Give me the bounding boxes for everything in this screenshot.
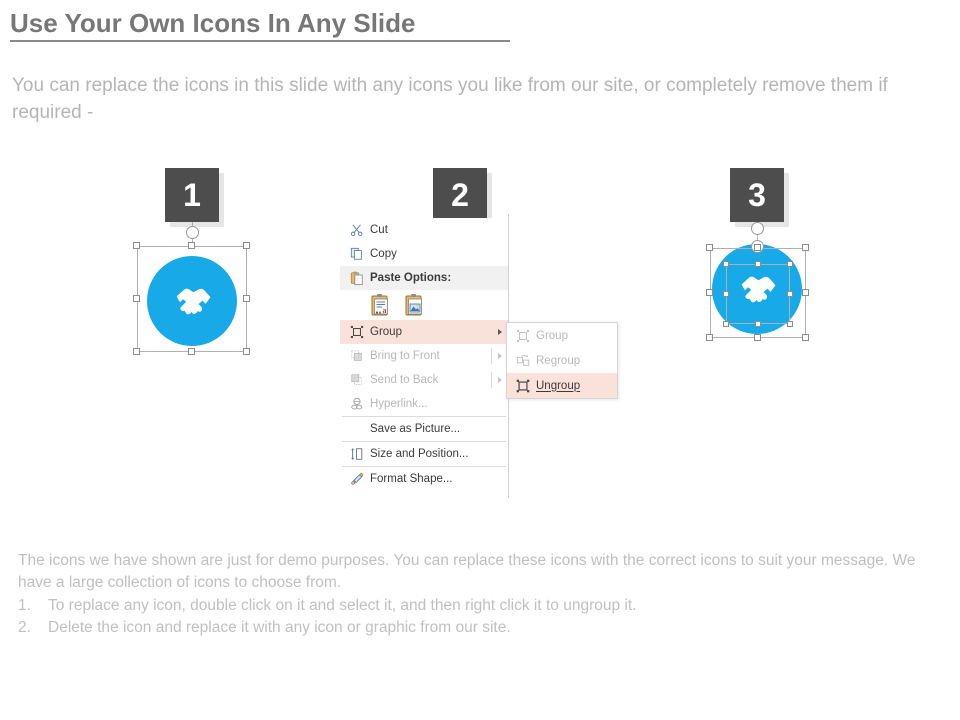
menu-item-format-shape-label: Format Shape... [370,473,452,485]
inner-handle-sw-3[interactable] [723,321,729,327]
copy-icon [344,245,370,263]
step-badge-1-number: 1 [183,177,201,214]
resize-handle-s-1[interactable] [188,348,195,355]
menu-item-send-to-back-label: Send to Back [370,374,438,386]
inner-handle-ne-3[interactable] [787,261,793,267]
menu-item-format-shape[interactable]: Format Shape... [340,467,508,491]
resize-handle-n-3[interactable] [754,244,761,251]
chevron-right-icon-send-to-back [498,377,502,383]
menu-item-cut[interactable]: Cut [340,218,508,242]
footer-paragraph: The icons we have shown are just for dem… [18,550,938,594]
submenu-rule-send-to-back [491,372,492,388]
menu-item-hyperlink-label: Hyperlink... [370,398,428,410]
menu-item-cut-label: Cut [370,224,388,236]
step-badge-2-number: 2 [451,177,469,214]
rotation-handle-1[interactable] [186,226,199,239]
footer-text-block: The icons we have shown are just for dem… [18,550,938,639]
step-badge-2: 2 [433,168,487,222]
size-position-icon [344,445,370,463]
selection-box-3-inner[interactable] [726,264,790,324]
menu-item-bring-to-front-label: Bring to Front [370,350,440,362]
menu-item-save-as-picture[interactable]: Save as Picture... [340,417,508,441]
resize-handle-ne-1[interactable] [243,242,250,249]
paste-keep-text-icon[interactable]: a [368,292,394,318]
resize-handle-ne-3[interactable] [802,244,809,251]
format-shape-icon [344,470,370,488]
paste-picture-icon[interactable] [402,292,428,318]
menu-item-group-label: Group [370,326,402,338]
scissors-icon [344,221,370,239]
menu-item-bring-to-front[interactable]: Bring to Front [340,344,508,368]
submenu-item-ungroup[interactable]: Ungroup [507,373,617,398]
selection-box-1[interactable] [137,246,247,352]
submenu-item-regroup-label: Regroup [536,355,580,367]
step-badge-3: 3 [730,168,784,222]
resize-handle-se-3[interactable] [802,334,809,341]
submenu-item-ungroup-label: Ungroup [536,380,580,392]
resize-handle-e-1[interactable] [243,295,250,302]
svg-text:a: a [383,306,387,315]
page-title: Use Your Own Icons In Any Slide [10,8,416,39]
resize-handle-e-3[interactable] [802,289,809,296]
menu-item-send-to-back[interactable]: Send to Back [340,368,508,392]
resize-handle-n-1[interactable] [188,242,195,249]
context-menu[interactable]: Cut Copy Paste Options: [340,218,508,491]
resize-handle-w-3[interactable] [706,289,713,296]
resize-handle-nw-3[interactable] [706,244,713,251]
footer-list-item-1-number: 1. [18,595,48,617]
rotation-handle-3-outer[interactable] [751,222,764,235]
no-icon-placeholder [344,420,370,438]
send-to-back-icon [344,371,370,389]
resize-handle-sw-1[interactable] [133,348,140,355]
hyperlink-icon [344,395,370,413]
menu-item-copy[interactable]: Copy [340,242,508,266]
step-badge-3-number: 3 [748,177,766,214]
footer-list-item-2-text: Delete the icon and replace it with any … [48,617,511,639]
submenu-item-regroup[interactable]: Regroup [507,348,617,373]
group-icon [510,327,536,345]
chevron-right-icon-bring-to-front [498,353,502,359]
bring-to-front-icon [344,347,370,365]
resize-handle-nw-1[interactable] [133,242,140,249]
inner-handle-n-3[interactable] [755,261,761,267]
title-underline [10,40,510,42]
page-subtitle: You can replace the icons in this slide … [12,72,954,126]
footer-list-item-1: 1. To replace any icon, double click on … [18,595,938,617]
paste-options-row[interactable]: a [340,290,508,320]
menu-item-paste-options[interactable]: Paste Options: [340,266,508,290]
regroup-icon [510,352,536,370]
menu-item-save-as-picture-label: Save as Picture... [370,423,460,435]
inner-handle-e-3[interactable] [787,291,793,297]
resize-handle-se-1[interactable] [243,348,250,355]
footer-list-item-2: 2. Delete the icon and replace it with a… [18,617,938,639]
group-icon [344,323,370,341]
resize-handle-w-1[interactable] [133,295,140,302]
inner-handle-nw-3[interactable] [723,261,729,267]
submenu-item-group-label: Group [536,330,568,342]
submenu-rule-bring-to-front [491,348,492,364]
resize-handle-s-3[interactable] [754,334,761,341]
menu-item-copy-label: Copy [370,248,397,260]
inner-handle-s-3[interactable] [755,321,761,327]
menu-item-size-and-position-label: Size and Position... [370,448,468,460]
menu-item-group[interactable]: Group [340,320,508,344]
menu-item-hyperlink[interactable]: Hyperlink... [340,392,508,416]
footer-list-item-1-text: To replace any icon, double click on it … [48,595,636,617]
chevron-right-icon-group [498,329,502,335]
submenu-item-group[interactable]: Group [507,323,617,348]
ungroup-icon [510,377,536,395]
inner-handle-se-3[interactable] [787,321,793,327]
clipboard-icon [344,269,370,287]
menu-item-size-and-position[interactable]: Size and Position... [340,442,508,466]
footer-list-item-2-number: 2. [18,617,48,639]
resize-handle-sw-3[interactable] [706,334,713,341]
step-badge-1: 1 [165,168,219,222]
menu-item-paste-options-label: Paste Options: [370,272,451,284]
group-submenu[interactable]: Group Regroup Ungroup [506,322,618,399]
inner-handle-w-3[interactable] [723,291,729,297]
